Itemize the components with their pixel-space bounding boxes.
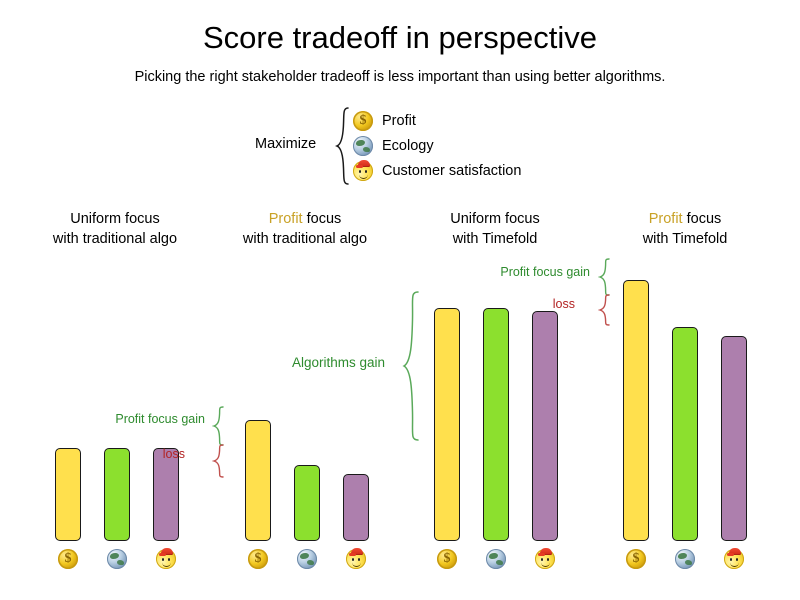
algorithms-gain-brace-icon bbox=[402, 290, 422, 442]
loss-label-left: loss bbox=[100, 447, 185, 461]
smiley-cap-icon bbox=[540, 548, 552, 555]
legend-item-customer-satisfaction: Customer satisfaction bbox=[353, 159, 521, 183]
group-header-line1: Uniform focus bbox=[450, 211, 539, 227]
smiley-mouth-icon bbox=[541, 561, 550, 567]
axis-smiley-icon-group-1 bbox=[156, 549, 176, 569]
smiley-mouth-icon bbox=[162, 561, 171, 567]
axis-globe-icon-group-2 bbox=[297, 549, 317, 569]
axis-globe-icon-group-4 bbox=[675, 549, 695, 569]
loss-brace-right-icon bbox=[598, 294, 612, 326]
legend-item-profit: Profit bbox=[353, 109, 416, 133]
legend-item-label: Customer satisfaction bbox=[382, 163, 521, 179]
bar-ecology-group-3 bbox=[483, 308, 509, 541]
group-header-1: Uniform focus with traditional algo bbox=[25, 209, 205, 249]
profit-focus-gain-brace-right-icon bbox=[598, 258, 612, 296]
bar-profit-group-4 bbox=[623, 280, 649, 541]
group-header-3: Uniform focus with Timefold bbox=[405, 209, 585, 249]
chart-canvas: Score tradeoff in perspective Picking th… bbox=[0, 0, 800, 600]
legend-label: Maximize bbox=[255, 136, 316, 152]
page-title: Score tradeoff in perspective bbox=[0, 18, 800, 58]
smiley-cap-icon bbox=[351, 548, 363, 555]
page-subtitle: Picking the right stakeholder tradeoff i… bbox=[0, 67, 800, 87]
axis-globe-icon-group-3 bbox=[486, 549, 506, 569]
profit-focus-gain-label-right: Profit focus gain bbox=[425, 265, 590, 279]
bar-ecology-group-4 bbox=[672, 327, 698, 541]
legend: Maximize Profit Ecology Customer satisfa… bbox=[255, 106, 575, 186]
smiley-cap-icon bbox=[358, 160, 370, 167]
bar-profit-group-3 bbox=[434, 308, 460, 541]
axis-smiley-icon-group-3 bbox=[535, 549, 555, 569]
loss-label-right: loss bbox=[490, 297, 575, 311]
bar-ecology-group-1 bbox=[104, 448, 130, 541]
globe-icon bbox=[353, 136, 373, 156]
axis-coin-icon-group-1 bbox=[58, 549, 78, 569]
smiley-cap-icon bbox=[161, 548, 173, 555]
bar-customer-satisfaction-group-3 bbox=[532, 311, 558, 541]
group-header-line1: Profit focus bbox=[269, 211, 342, 227]
axis-coin-icon-group-4 bbox=[626, 549, 646, 569]
group-header-4: Profit focus with Timefold bbox=[595, 209, 775, 249]
group-header-line2: with Timefold bbox=[453, 231, 538, 247]
smiley-mouth-icon bbox=[359, 173, 368, 179]
axis-coin-icon-group-2 bbox=[248, 549, 268, 569]
smiley-cap-icon bbox=[729, 548, 741, 555]
legend-item-label: Profit bbox=[382, 113, 416, 129]
coin-icon bbox=[353, 111, 373, 131]
group-header-2: Profit focus with traditional algo bbox=[215, 209, 395, 249]
axis-coin-icon-group-3 bbox=[437, 549, 457, 569]
loss-brace-left-icon bbox=[212, 444, 226, 478]
bar-profit-group-2 bbox=[245, 420, 271, 541]
group-header-line2: with traditional algo bbox=[53, 231, 177, 247]
profit-focus-gain-brace-left-icon bbox=[212, 406, 226, 446]
profit-focus-gain-label-left: Profit focus gain bbox=[40, 412, 205, 426]
group-header-line2: with Timefold bbox=[643, 231, 728, 247]
legend-brace-icon bbox=[335, 106, 351, 186]
bar-customer-satisfaction-group-2 bbox=[343, 474, 369, 541]
profit-highlight: Profit bbox=[269, 211, 303, 227]
group-header-line1: Profit focus bbox=[649, 211, 722, 227]
profit-highlight: Profit bbox=[649, 211, 683, 227]
legend-item-ecology: Ecology bbox=[353, 134, 434, 158]
legend-item-label: Ecology bbox=[382, 138, 434, 154]
bar-customer-satisfaction-group-4 bbox=[721, 336, 747, 541]
bar-ecology-group-2 bbox=[294, 465, 320, 541]
axis-smiley-icon-group-2 bbox=[346, 549, 366, 569]
algorithms-gain-label: Algorithms gain bbox=[215, 355, 385, 370]
group-header-line2: with traditional algo bbox=[243, 231, 367, 247]
axis-smiley-icon-group-4 bbox=[724, 549, 744, 569]
axis-globe-icon-group-1 bbox=[107, 549, 127, 569]
bar-profit-group-1 bbox=[55, 448, 81, 541]
bar-customer-satisfaction-group-1 bbox=[153, 448, 179, 541]
smiley-icon bbox=[353, 161, 373, 181]
group-header-line1: Uniform focus bbox=[70, 211, 159, 227]
smiley-mouth-icon bbox=[352, 561, 361, 567]
smiley-mouth-icon bbox=[730, 561, 739, 567]
